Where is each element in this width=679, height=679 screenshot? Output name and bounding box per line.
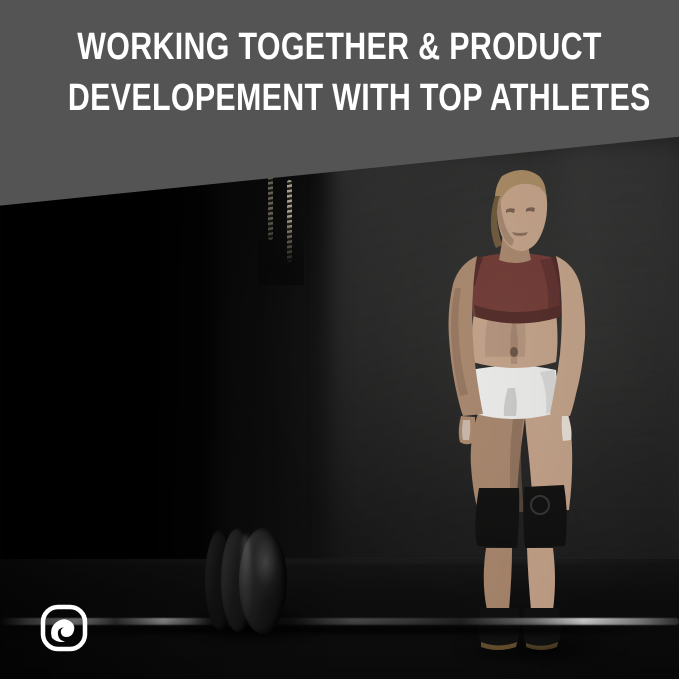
navel	[510, 347, 518, 357]
barbell-shadow	[0, 626, 679, 634]
bumper-plate-stack	[205, 528, 293, 636]
right-hand-chalk	[562, 416, 572, 441]
poster-image: WORKING TOGETHER & PRODUCT DEVELOPEMENT …	[0, 0, 679, 679]
knee-sleeve-right	[523, 485, 567, 548]
left-hand-chalk	[462, 420, 470, 440]
left-calf	[484, 548, 512, 610]
knee-sleeve-left	[475, 488, 519, 548]
abs-definition-2	[486, 320, 525, 356]
plate-edge-highlight	[241, 534, 251, 626]
logo-spiral-wave-icon	[51, 619, 74, 642]
right-calf	[527, 548, 555, 610]
barbell-shaft	[0, 618, 679, 625]
rehband-logo	[37, 603, 91, 653]
